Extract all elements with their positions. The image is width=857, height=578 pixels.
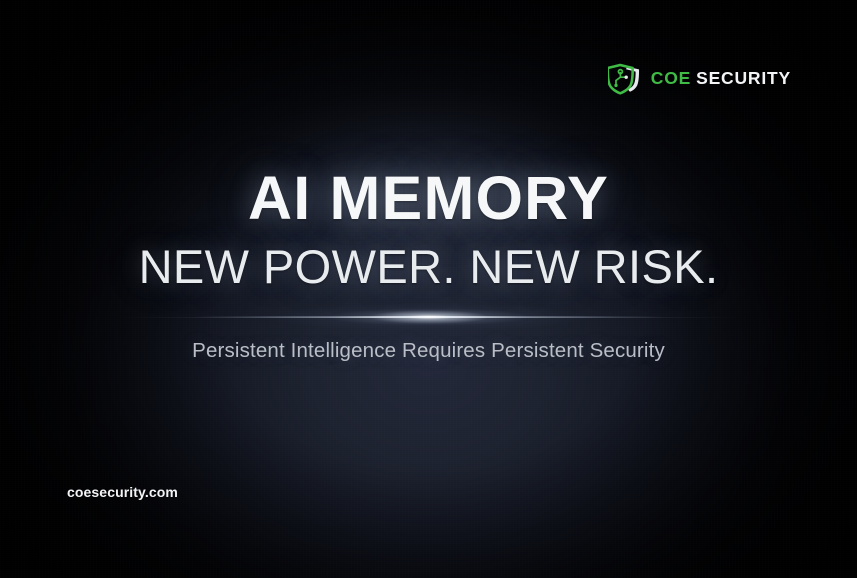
brand-wordmark-coe: COE: [651, 70, 691, 88]
brand-wordmark: COE SECURITY: [651, 70, 791, 88]
slide-title: AI MEMORY: [0, 168, 857, 229]
footer-website-url[interactable]: coesecurity.com: [67, 484, 178, 500]
slide-tagline: Persistent Intelligence Requires Persist…: [0, 339, 857, 363]
slide-subtitle: NEW POWER. NEW RISK.: [0, 243, 857, 290]
headline-block: AI MEMORY NEW POWER. NEW RISK.: [0, 168, 857, 290]
shield-circuit-icon: [608, 63, 642, 95]
brand-wordmark-security: SECURITY: [696, 70, 791, 88]
brand-logo-lockup[interactable]: COE SECURITY: [608, 62, 791, 96]
presentation-slide: COE SECURITY AI MEMORY NEW POWER. NEW RI…: [0, 0, 857, 578]
